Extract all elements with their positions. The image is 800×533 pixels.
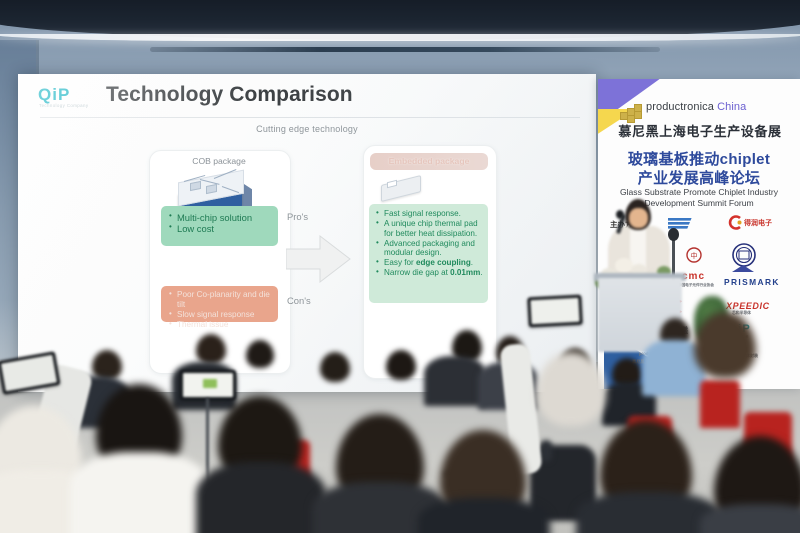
list-item: Low cost (168, 223, 274, 234)
productronica-mark-icon (620, 103, 642, 119)
foreground-body (70, 452, 210, 533)
backpack-strap (540, 440, 552, 462)
sponsor-logo-badge-icon (732, 243, 756, 267)
qip-logo-subtext: Technology Company (39, 103, 88, 108)
qip-logo: QiP Technology Company (38, 85, 94, 109)
pros-label: Pro's (287, 211, 308, 222)
list-item: Fast signal response. (375, 209, 484, 219)
banner-brand-chinese: 慕尼黑上海电子生产设备展 (614, 121, 786, 140)
embedded-pros-list: Fast signal response.A unique chip therm… (375, 209, 484, 278)
cob-cons-box: Poor Co-planarity and die tiltSlow signa… (161, 286, 278, 322)
audience-head (196, 334, 226, 364)
phone-screen (183, 373, 233, 397)
phone-screen (1, 355, 57, 392)
ceiling-rail (150, 47, 660, 52)
productronica-wordmark: productronica China (646, 101, 746, 113)
sponsor-logo-prismark-icon (730, 265, 756, 276)
list-item: Advanced packaging and modular design. (375, 239, 484, 259)
slide-title: Technology Comparison (106, 83, 353, 107)
cob-cons-list: Poor Co-planarity and die tiltSlow signa… (168, 290, 274, 330)
speaker-face (629, 208, 648, 228)
qip-logo-text: QiP (38, 85, 70, 105)
foreground-body (418, 498, 550, 533)
list-item: Slow signal response (168, 310, 274, 320)
forum-title-cn-line1: 玻璃基板推动chiplet (604, 148, 794, 169)
cob-pros-list: Multi-chip solutionLow cost (168, 212, 274, 235)
embedded-pros-box: Fast signal response.A unique chip therm… (369, 204, 488, 303)
forum-title-cn-line2: 产业发展高峰论坛 (604, 167, 794, 188)
stand-microphone-icon (668, 228, 679, 241)
list-item: Poor Co-planarity and die tilt (168, 290, 274, 310)
ceiling-light-strip (0, 34, 800, 41)
foreground-body (196, 462, 326, 533)
phone-device (180, 370, 236, 400)
embedded-package-illustration (381, 176, 427, 202)
comparison-arrow-icon (286, 232, 352, 286)
cob-package-title: COB package (149, 156, 289, 166)
conference-photo: QiP Technology Company Technology Compar… (0, 0, 800, 533)
phone-screen (530, 298, 579, 324)
embedded-package-title: Embedded package (370, 153, 488, 170)
sponsor-logo-seal-icon: 中 (686, 247, 702, 265)
sponsor-logo-c-icon (728, 215, 742, 230)
foreground-body (576, 492, 720, 533)
audience-head (320, 352, 350, 382)
audience-head (386, 350, 416, 380)
cob-pros-box: Multi-chip solutionLow cost (161, 206, 278, 246)
list-item: Thermal issue (168, 320, 274, 330)
slide-title-divider (40, 117, 580, 118)
phone-device (527, 295, 582, 328)
svg-text:中: 中 (691, 251, 698, 260)
microphone-head-icon (616, 210, 624, 219)
list-item: Narrow die gap at 0.01mm. (375, 268, 484, 278)
cons-label: Con's (287, 295, 311, 306)
list-item: Easy for edge coupling. (375, 258, 484, 268)
audience-head (246, 340, 274, 368)
list-item: A unique chip thermal pad for better hea… (375, 219, 484, 239)
list-item: Multi-chip solution (168, 212, 274, 223)
slide-subtitle: Cutting edge technology (18, 124, 596, 134)
audience-body (424, 356, 486, 406)
foreground-body (700, 504, 800, 533)
chair (700, 380, 740, 428)
